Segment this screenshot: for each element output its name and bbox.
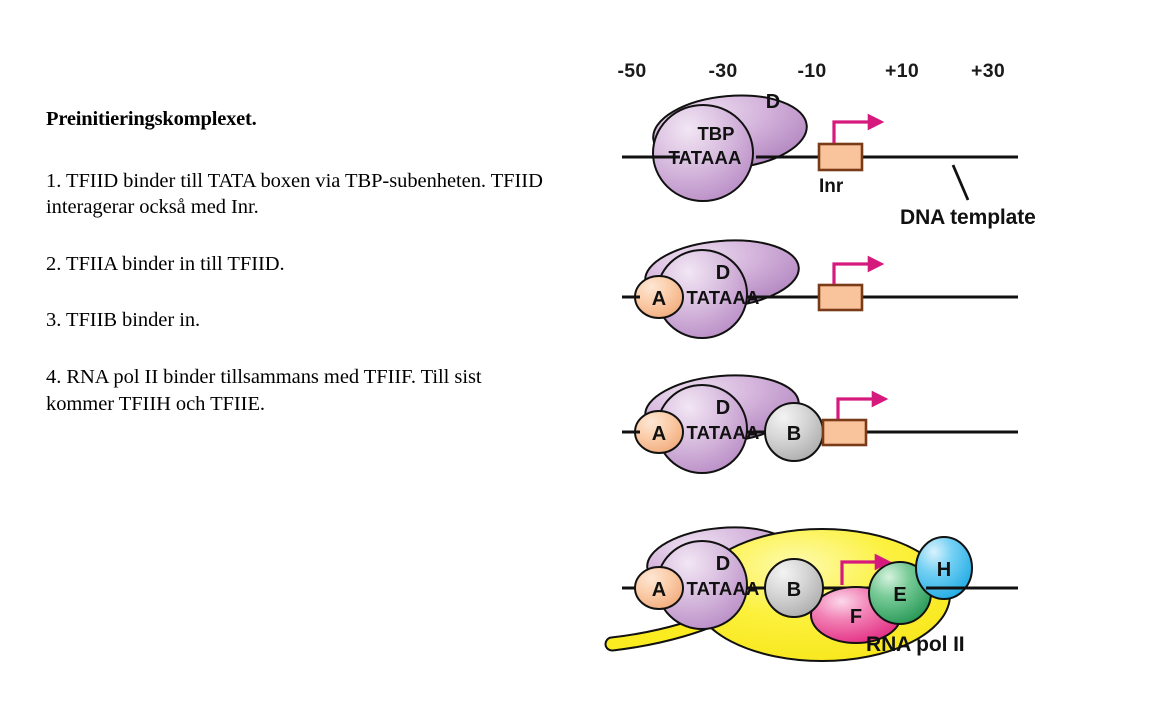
tfiib-b-label-row4: B — [787, 579, 801, 601]
tata-sequence-row3: TATAAA — [686, 422, 759, 443]
tfiih-h-label-row4: H — [937, 559, 951, 581]
complex-row-3-tfiid-tfiia-tfiib: D A TATAAA B — [622, 369, 1018, 473]
scale-ruler: -50 -30 -10 +10 +30 — [617, 60, 1005, 82]
page-title: Preinitieringskomplexet. — [46, 108, 546, 132]
diagram-svg: -50 -30 -10 +10 +30 D TBP TATAAA Inr DNA… — [590, 40, 1050, 680]
slide-text-column: Preinitieringskomplexet. 1. TFIID binder… — [46, 108, 546, 417]
transcription-arrow-row3 — [838, 399, 875, 419]
scale-tick-plus10: +10 — [885, 60, 919, 82]
transcription-arrow-row2 — [834, 264, 871, 284]
inr-annotation: Inr — [819, 176, 844, 197]
inr-box-row3 — [823, 420, 866, 445]
complex-row-4-holoenzyme: D A TATAAA B F E H RNA pol II — [612, 522, 1018, 661]
tfiid-d-label-row2: D — [716, 262, 730, 284]
transcription-arrow-row1 — [834, 122, 871, 143]
tfiid-d-label-row4: D — [716, 553, 730, 575]
step-1-text: 1. TFIID binder till TATA boxen via TBP-… — [46, 168, 546, 221]
tfiia-a-label-row3: A — [652, 423, 666, 445]
tata-sequence-row4: TATAAA — [686, 578, 759, 599]
dna-template-annotation: DNA template — [900, 206, 1036, 229]
tfiid-d-label-row1: D — [766, 91, 780, 113]
tfiif-f-label-row4: F — [850, 606, 862, 628]
scale-tick-minus10: -10 — [797, 60, 826, 82]
tfiia-a-label-row4: A — [652, 579, 666, 601]
tfiie-e-label-row4: E — [893, 584, 906, 606]
tfiib-b-label-row3: B — [787, 423, 801, 445]
tata-sequence-row1: TATAAA — [668, 147, 741, 168]
complex-row-1-tfiid: D TBP TATAAA Inr DNA template — [622, 89, 1036, 229]
dna-template-leader-line — [953, 165, 968, 200]
preinitiation-complex-diagram: -50 -30 -10 +10 +30 D TBP TATAAA Inr DNA… — [590, 40, 1050, 680]
step-3-text: 3. TFIIB binder in. — [46, 307, 546, 334]
scale-tick-plus30: +30 — [971, 60, 1005, 82]
scale-tick-minus30: -30 — [708, 60, 737, 82]
complex-row-2-tfiid-tfiia: D A TATAAA — [622, 234, 1018, 338]
scale-tick-minus50: -50 — [617, 60, 646, 82]
step-4-text: 4. RNA pol II binder tillsammans med TFI… — [46, 364, 546, 417]
inr-box-row2 — [819, 285, 862, 310]
step-2-text: 2. TFIIA binder in till TFIID. — [46, 251, 546, 278]
tfiid-d-label-row3: D — [716, 397, 730, 419]
inr-box-row1 — [819, 144, 862, 170]
rna-pol-annotation: RNA pol II — [866, 633, 965, 656]
tbp-label-row1: TBP — [698, 123, 735, 144]
tfiia-a-label-row2: A — [652, 288, 666, 310]
tata-sequence-row2: TATAAA — [686, 287, 759, 308]
